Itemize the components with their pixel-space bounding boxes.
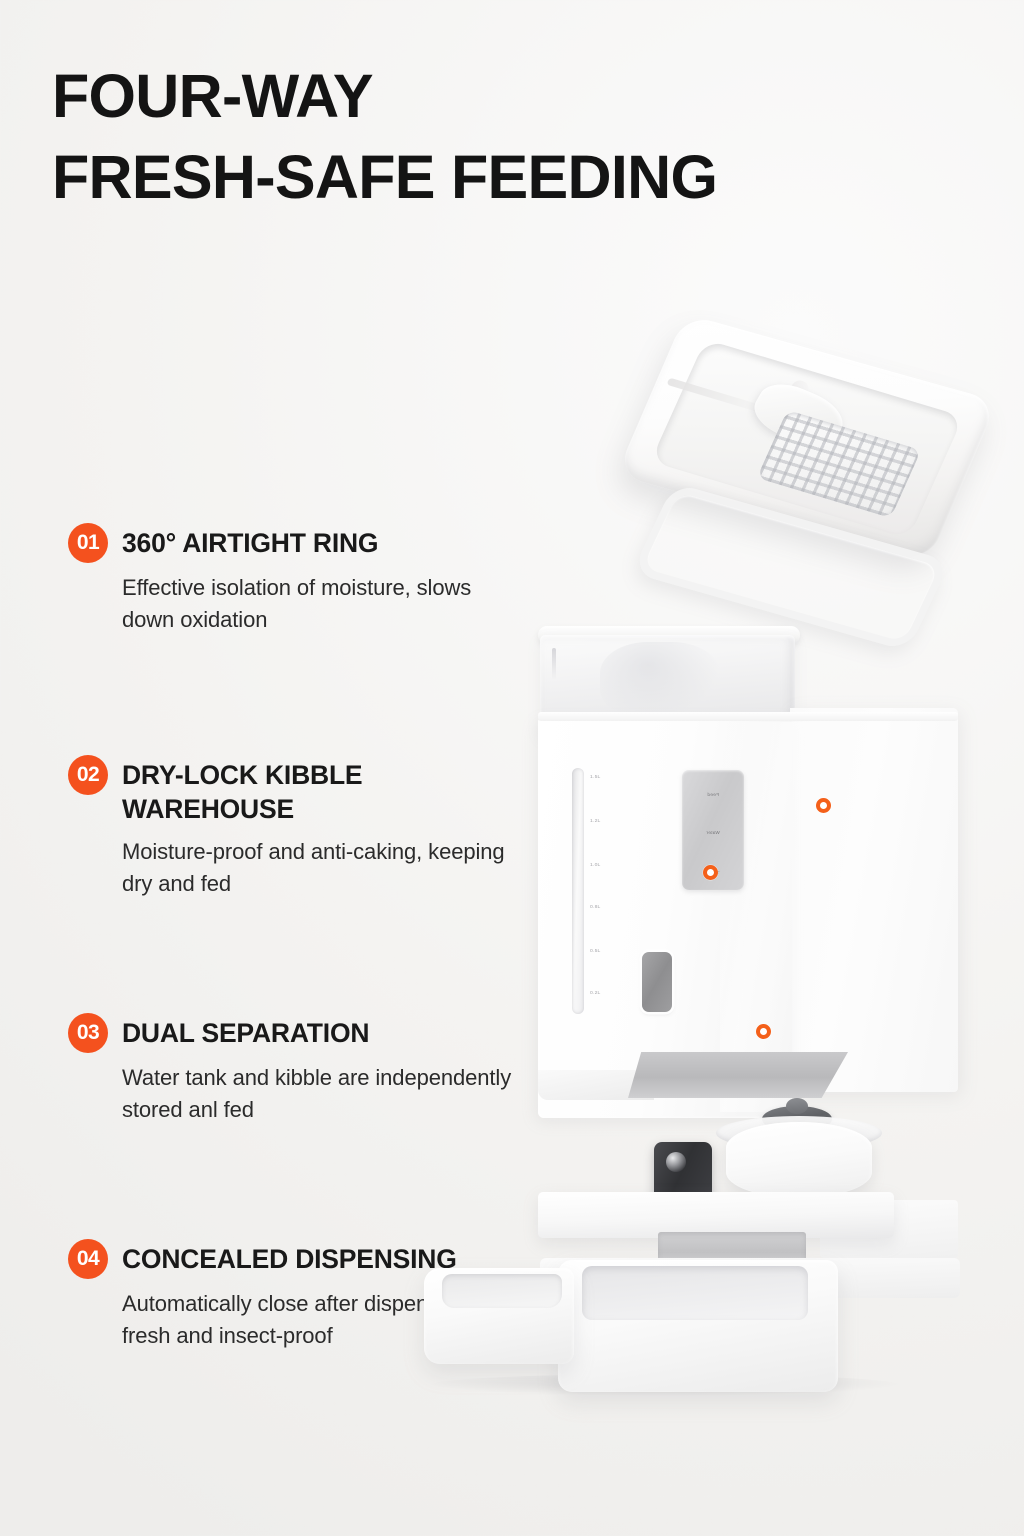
callout-marker-lid [816,798,831,813]
food-bowl-cavity [582,1266,808,1320]
product-exploded-view: 1.5L 1.2L 1.0L 0.8L 0.5L 0.2L Feed Water… [390,330,1024,1440]
gauge-tick-label: 1.2L [590,818,601,823]
gauge-tick-label: 0.8L [590,904,601,909]
body-side-panel [790,708,958,1092]
body-top-edge [538,712,958,721]
panel-label: Water [682,830,744,835]
feature-number-badge: 02 [68,755,108,795]
water-tank-seam [552,648,556,680]
callout-marker-seal-ring [703,865,718,880]
water-tank-highlight [600,642,720,720]
gauge-tick-labels: 1.5L 1.2L 1.0L 0.8L 0.5L 0.2L [590,770,626,1014]
panel-label: Feed [682,792,744,797]
gauge-tick-label: 0.5L [590,948,601,953]
feature-number-badge: 04 [68,1239,108,1279]
body-side-button[interactable] [642,952,672,1012]
water-bowl-cavity [442,1274,562,1308]
infographic-page: FOUR-WAY FRESH-SAFE FEEDING 01 360° AIRT… [0,0,1024,1536]
gauge-tick-label: 1.0L [590,862,601,867]
rotor-hub [786,1098,808,1114]
airtight-seal-ring [653,522,929,612]
kibble-chute-ramp [628,1052,848,1098]
feature-title: 360° AIRTIGHT RING [122,522,378,560]
gauge-tick-label: 0.2L [590,990,601,995]
feature-number-badge: 01 [68,523,108,563]
camera-lens-icon [666,1152,686,1172]
callout-marker-water-tank [756,1024,771,1039]
water-level-gauge [572,768,584,1014]
gauge-tick-label: 1.5L [590,774,601,779]
feature-title: DUAL SEPARATION [122,1012,369,1050]
feature-number-badge: 03 [68,1013,108,1053]
dispenser-bowl-housing [726,1122,872,1198]
